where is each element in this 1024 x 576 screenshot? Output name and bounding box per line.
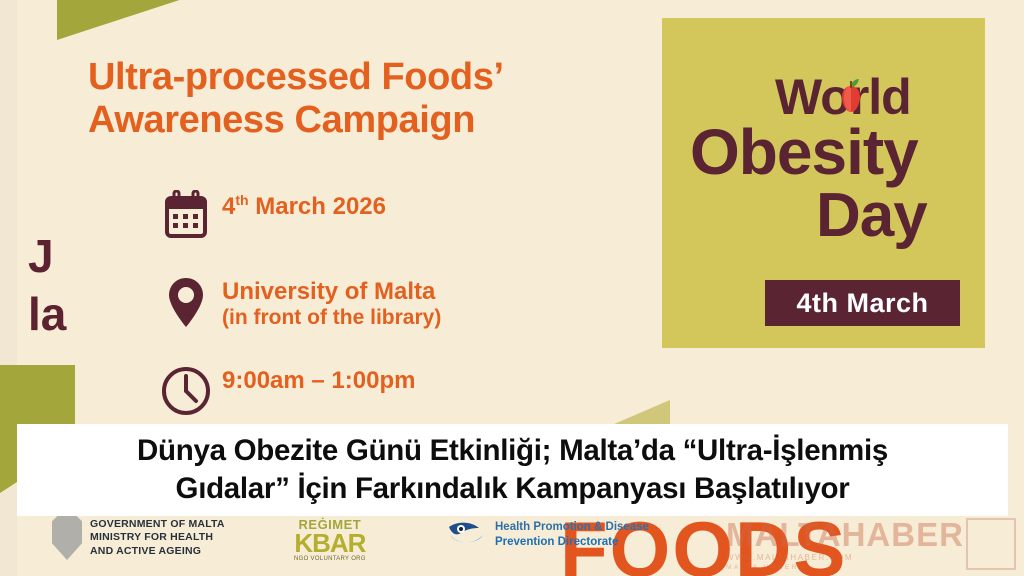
eye-icon	[447, 521, 489, 549]
event-details-list: 4th March 2026 University of Malta (in f…	[150, 188, 620, 449]
event-venue: University of Malta	[222, 278, 435, 305]
gov-logo-line-3: AND ACTIVE AGEING	[90, 545, 225, 558]
maltahaber-watermark: MALTAHABER WWW.MALTAHABER.COM MALTA HABE…	[726, 518, 1016, 572]
event-month-year: March 2026	[249, 193, 386, 220]
government-of-malta-logo: GOVERNMENT OF MALTA MINISTRY FOR HEALTH …	[52, 516, 225, 560]
wod-word-day: Day	[816, 185, 927, 247]
gov-logo-line-2: MINISTRY FOR HEALTH	[90, 531, 225, 544]
wod-word-obesity: Obesity	[690, 120, 918, 184]
gov-logo-line-1: GOVERNMENT OF MALTA	[90, 518, 225, 531]
health-promotion-directorate-logo: Health Promotion & Disease Prevention Di…	[447, 520, 649, 550]
cropped-side-text: J la	[28, 228, 74, 348]
article-headline-line-2: Gıdalar” İçin Farkındalık Kampanyası Baş…	[176, 470, 850, 508]
detail-row-time: 9:00am – 1:00pm	[150, 363, 620, 417]
cropped-side-text-line-1: J	[28, 228, 74, 286]
wod-date-badge: 4th March	[765, 280, 960, 326]
article-headline-line-1: Dünya Obezite Günü Etkinliği; Malta’da “…	[137, 432, 888, 470]
page-title-line-2: Awareness Campaign	[88, 99, 648, 142]
event-day-number: 4	[222, 193, 235, 220]
detail-row-date: 4th March 2026	[150, 188, 620, 242]
kbar-logo: REĠIMET KBAR NGO VOLUNTARY ORG	[294, 518, 366, 562]
hpdp-logo-line-2: Prevention Directorate	[495, 535, 649, 550]
event-day-ordinal: th	[235, 192, 248, 208]
government-of-malta-logo-text: GOVERNMENT OF MALTA MINISTRY FOR HEALTH …	[90, 518, 225, 558]
article-headline: Dünya Obezite Günü Etkinliği; Malta’da “…	[17, 424, 1008, 516]
detail-text-date: 4th March 2026	[222, 188, 386, 221]
location-pin-icon	[150, 274, 222, 330]
clock-icon	[150, 363, 222, 417]
partner-logos: GOVERNMENT OF MALTA MINISTRY FOR HEALTH …	[22, 512, 722, 574]
detail-text-time: 9:00am – 1:00pm	[222, 363, 415, 395]
detail-row-location: University of Malta (in front of the lib…	[150, 274, 620, 331]
kbar-logo-line-2: KBAR	[294, 531, 366, 556]
poster-screenshot: FOODS Ultra-processed Foods’ Awareness C…	[0, 0, 1024, 576]
calendar-icon	[150, 188, 222, 242]
kbar-logo-line-3: NGO VOLUNTARY ORG	[294, 556, 366, 562]
apple-icon	[834, 78, 868, 114]
malta-crest-icon	[52, 516, 82, 560]
cropped-side-text-line-2: la	[28, 286, 74, 344]
page-title-line-1: Ultra-processed Foods’	[88, 56, 648, 99]
detail-text-location: University of Malta (in front of the lib…	[222, 274, 441, 331]
health-promotion-directorate-logo-text: Health Promotion & Disease Prevention Di…	[495, 520, 649, 550]
event-venue-note: (in front of the library)	[222, 306, 441, 331]
watermark-notepad-icon	[966, 518, 1016, 570]
page-title: Ultra-processed Foods’ Awareness Campaig…	[88, 56, 648, 142]
hpdp-logo-line-1: Health Promotion & Disease	[495, 520, 649, 535]
event-time: 9:00am – 1:00pm	[222, 367, 415, 394]
